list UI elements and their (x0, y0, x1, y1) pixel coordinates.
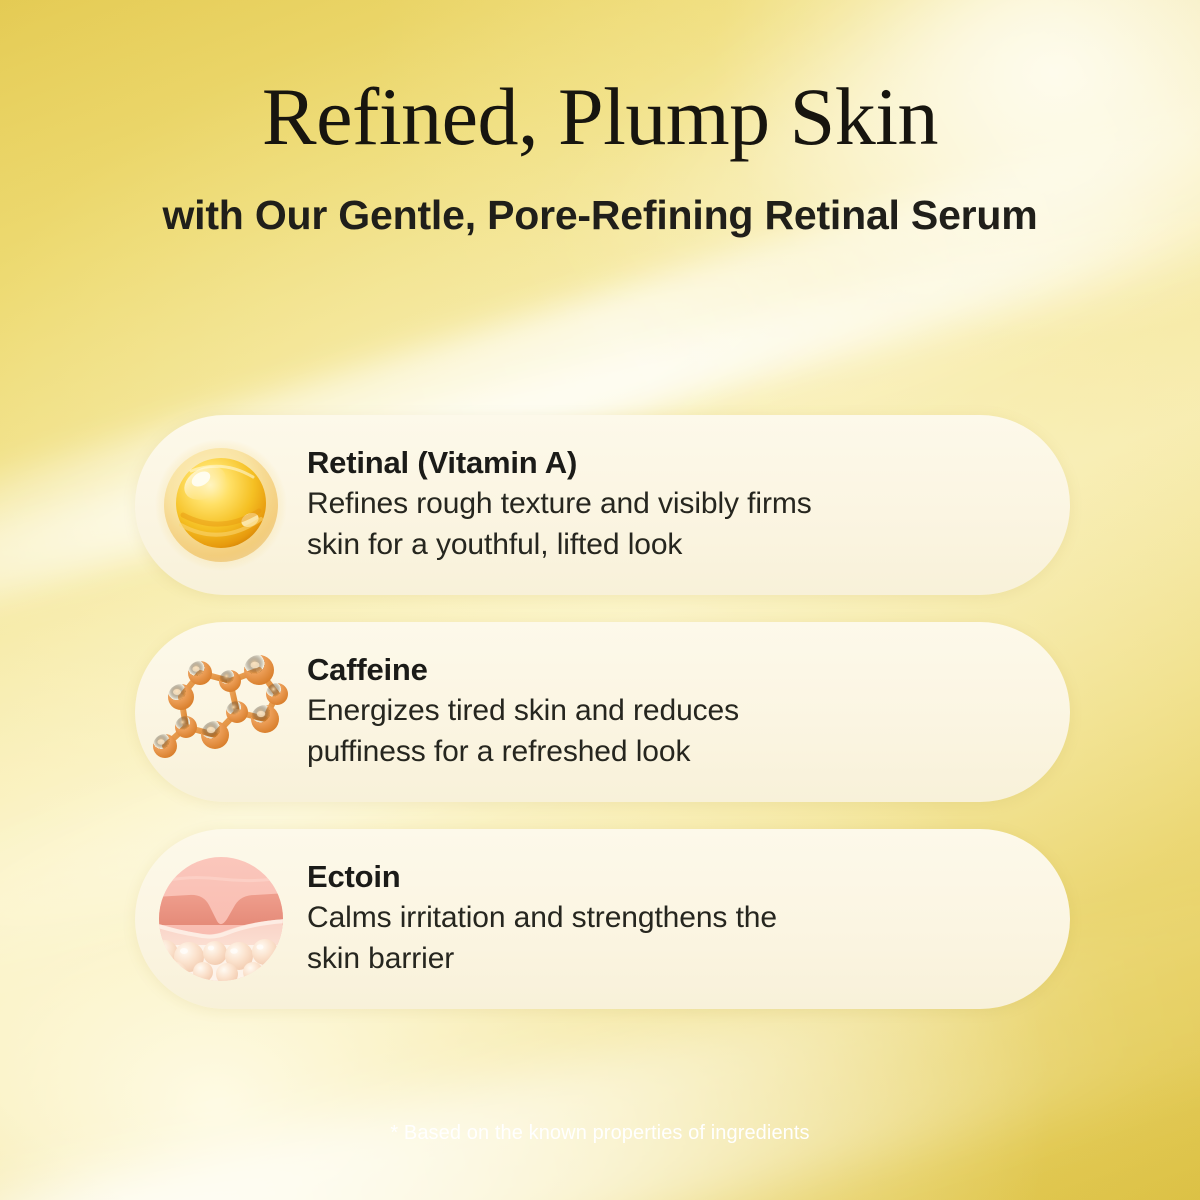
ingredient-title: Retinal (Vitamin A) (307, 444, 812, 481)
ingredient-card-retinal: Retinal (Vitamin A) Refines rough textur… (135, 415, 1070, 595)
ingredient-text: Caffeine Energizes tired skin and reduce… (307, 651, 793, 773)
ingredient-card-ectoin: Ectoin Calms irritation and strengthens … (135, 829, 1070, 1009)
caffeine-molecule-icon (135, 622, 307, 802)
page-title: Refined, Plump Skin (0, 0, 1200, 158)
page-subtitle: with Our Gentle, Pore-Refining Retinal S… (0, 188, 1200, 242)
ingredient-text: Retinal (Vitamin A) Refines rough textur… (307, 444, 866, 566)
ingredient-card-list: Retinal (Vitamin A) Refines rough textur… (135, 415, 1070, 1009)
ingredient-title: Caffeine (307, 651, 739, 688)
infographic-canvas: Refined, Plump Skin with Our Gentle, Por… (0, 0, 1200, 1200)
ingredient-text: Ectoin Calms irritation and strengthens … (307, 858, 831, 980)
header: Refined, Plump Skin with Our Gentle, Por… (0, 0, 1200, 242)
gold-oil-droplet-icon (135, 415, 307, 595)
ingredient-card-caffeine: Caffeine Energizes tired skin and reduce… (135, 622, 1070, 802)
skin-barrier-cross-section-icon (135, 829, 307, 1009)
ingredient-description: Calms irritation and strengthens the ski… (307, 898, 777, 980)
footnote: * Based on the known properties of ingre… (0, 1122, 1200, 1145)
ingredient-title: Ectoin (307, 858, 777, 895)
ingredient-description: Energizes tired skin and reduces puffine… (307, 691, 739, 773)
ingredient-description: Refines rough texture and visibly firms … (307, 484, 812, 566)
